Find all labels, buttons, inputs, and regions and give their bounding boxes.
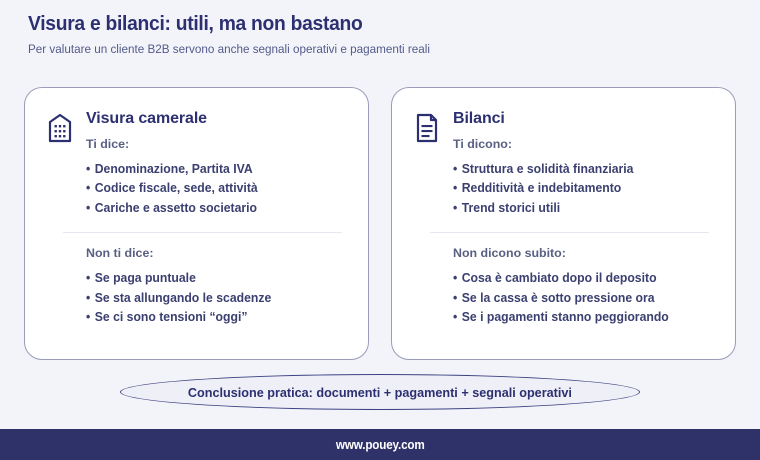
conclusion-ellipse: Conclusione pratica: documenti + pagamen…	[120, 374, 640, 410]
card-header: Bilanci Ti dicono: Struttura e solidità …	[414, 110, 711, 218]
list-item: Se la cassa è sotto pressione ora	[453, 289, 703, 308]
negative-list: Se paga puntuale Se sta allungando le sc…	[86, 269, 344, 327]
page-subtitle: Per valutare un cliente B2B servono anch…	[28, 42, 703, 56]
card-title: Visura camerale	[86, 110, 344, 128]
positive-lead: Ti dicono:	[453, 137, 711, 151]
card-visura-camerale: Visura camerale Ti dice: Denominazione, …	[24, 87, 369, 360]
list-item: Trend storici utili	[453, 199, 703, 218]
negative-lead: Non dicono subito:	[453, 246, 711, 260]
conclusion-text: Conclusione pratica: documenti + pagamen…	[188, 385, 572, 400]
positive-list: Denominazione, Partita IVA Codice fiscal…	[86, 160, 344, 218]
card-divider	[63, 232, 342, 234]
list-item: Se i pagamenti stanno peggiorando	[453, 308, 703, 327]
card-header: Visura camerale Ti dice: Denominazione, …	[47, 110, 344, 218]
document-icon	[414, 112, 440, 144]
card-container: Visura camerale Ti dice: Denominazione, …	[24, 87, 736, 360]
card-head-text: Bilanci Ti dicono: Struttura e solidità …	[453, 110, 711, 218]
card-bilanci: Bilanci Ti dicono: Struttura e solidità …	[391, 87, 736, 360]
list-item: Se ci sono tensioni “oggi”	[86, 308, 336, 327]
footer-bar: www.pouey.com	[0, 429, 760, 460]
list-item: Se sta allungando le scadenze	[86, 289, 336, 308]
card-title: Bilanci	[453, 110, 711, 128]
negative-list: Cosa è cambiato dopo il deposito Se la c…	[453, 269, 711, 327]
positive-lead: Ti dice:	[86, 137, 344, 151]
list-item: Cariche e assetto societario	[86, 199, 336, 218]
infographic-page: Visura e bilanci: utili, ma non bastano …	[0, 0, 760, 460]
positive-list: Struttura e solidità finanziaria Redditi…	[453, 160, 711, 218]
list-item: Redditività e indebitamento	[453, 179, 703, 198]
conclusion-container: Conclusione pratica: documenti + pagamen…	[0, 373, 760, 411]
card-divider	[430, 232, 709, 234]
card-head-text: Visura camerale Ti dice: Denominazione, …	[86, 110, 344, 218]
list-item: Codice fiscale, sede, attività	[86, 179, 336, 198]
list-item: Cosa è cambiato dopo il deposito	[453, 269, 703, 288]
list-item: Struttura e solidità finanziaria	[453, 160, 703, 179]
page-header: Visura e bilanci: utili, ma non bastano …	[28, 12, 738, 56]
page-title: Visura e bilanci: utili, ma non bastano	[28, 12, 695, 36]
footer-url: www.pouey.com	[336, 437, 425, 452]
card-lower-section: Non ti dice: Se paga puntuale Se sta all…	[47, 246, 344, 327]
negative-lead: Non ti dice:	[86, 246, 344, 260]
list-item: Se paga puntuale	[86, 269, 336, 288]
card-lower-section: Non dicono subito: Cosa è cambiato dopo …	[414, 246, 711, 327]
building-icon	[47, 112, 73, 144]
list-item: Denominazione, Partita IVA	[86, 160, 336, 179]
